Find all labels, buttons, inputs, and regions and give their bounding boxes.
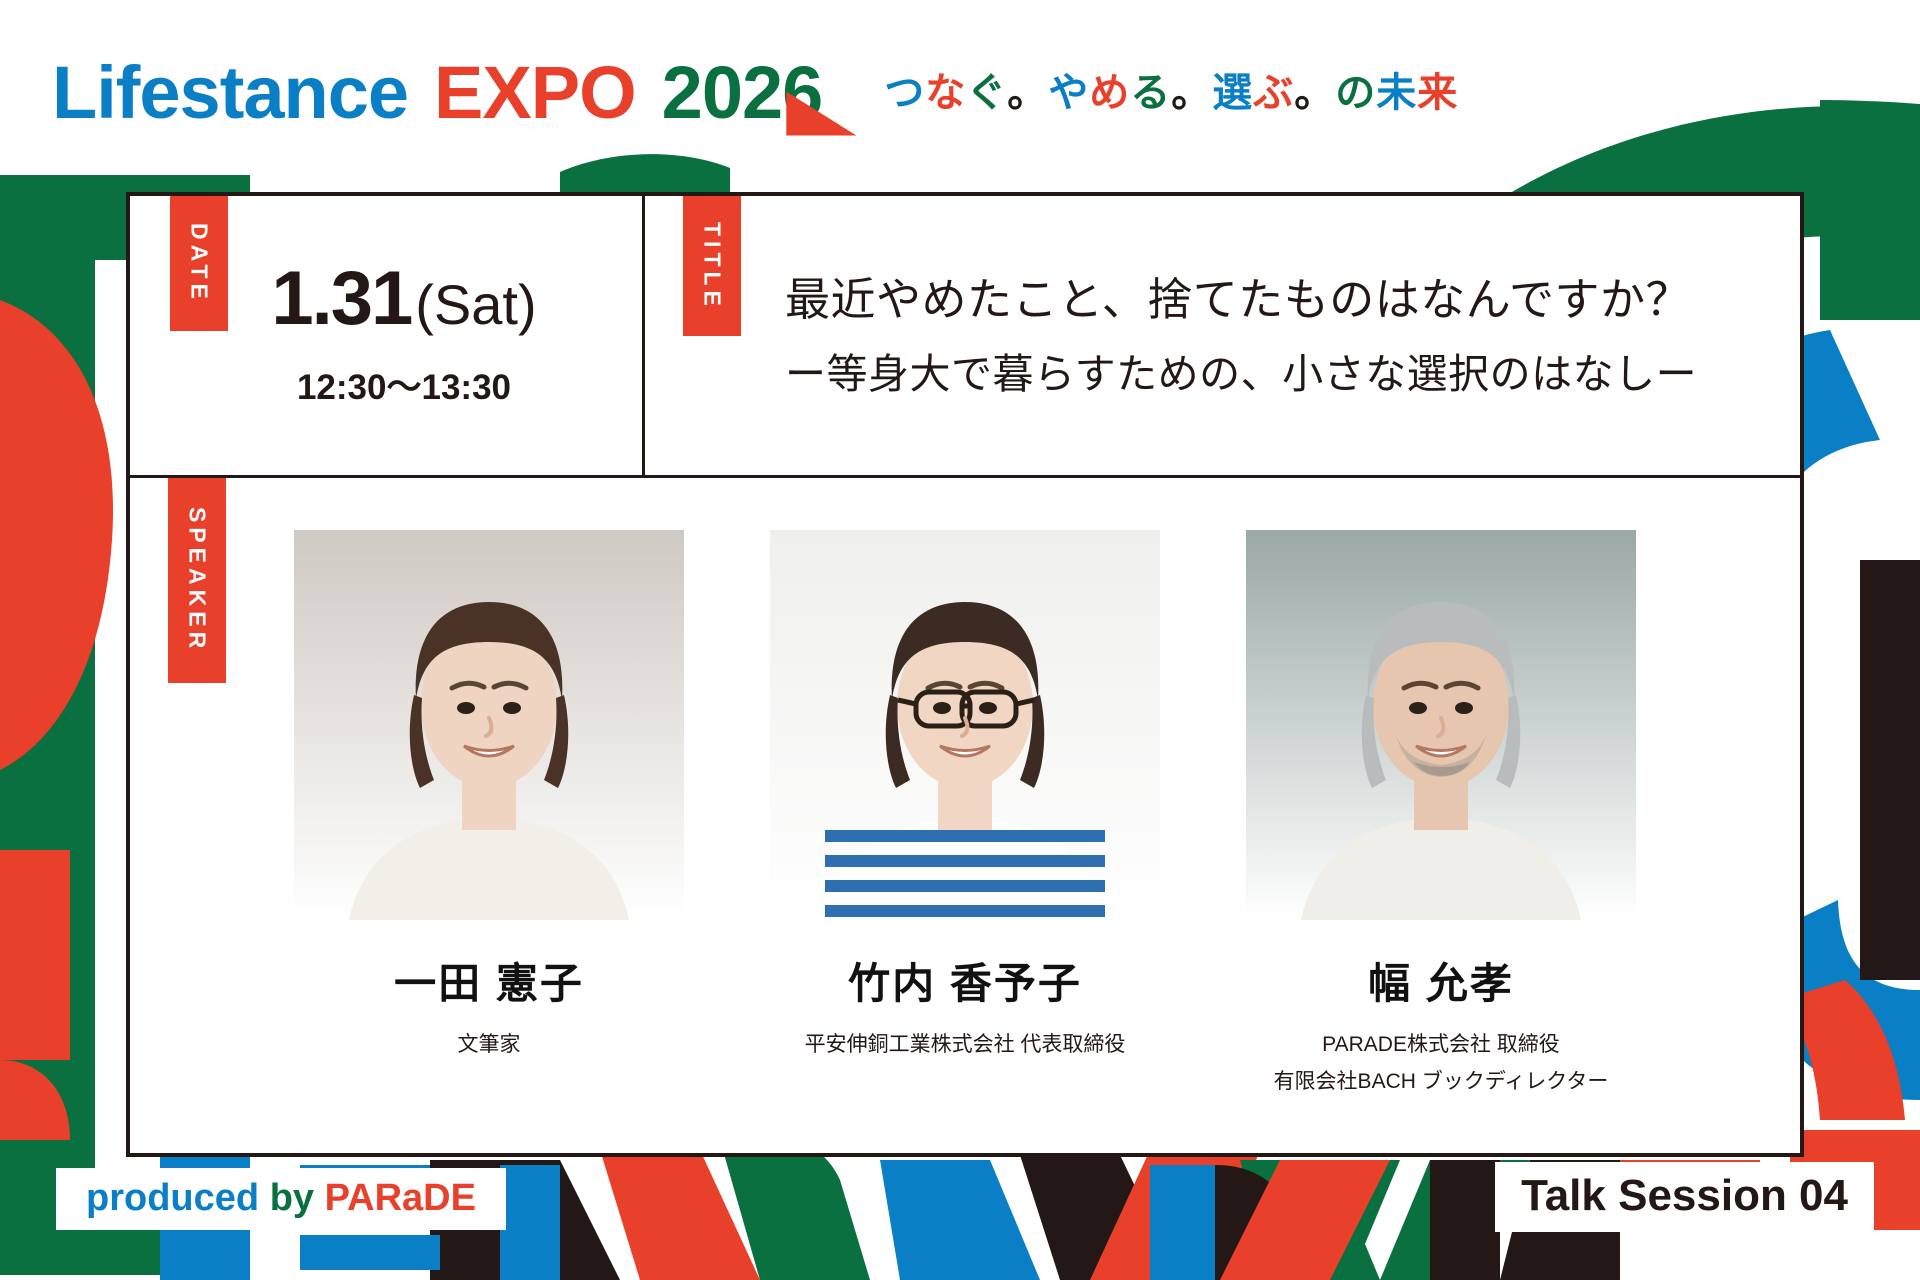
speaker-name: 竹内 香予子 (848, 950, 1082, 1011)
speaker-name: 幅 允孝 (1368, 950, 1514, 1011)
card-top-row: DATE 1.31 (Sat) 12:30〜13:30 TITLE 最近やめたこ… (130, 196, 1800, 478)
tagline-char-10: 。 (1294, 71, 1335, 115)
logo-word-lifestance: Lifestance (52, 56, 408, 130)
poster-header: Lifestance EXPO 2026 つなぐ。やめる。選ぶ。の未来 (0, 0, 1920, 185)
speaker-item: 幅 允孝PARADE株式会社 取締役有限会社BACH ブックディレクター (1246, 530, 1636, 1098)
tagline-char-12: 未 (1376, 71, 1417, 115)
speaker-label-badge: SPEAKER (168, 478, 226, 683)
speaker-role: 文筆家 (458, 1029, 521, 1062)
tagline-char-5: め (1089, 71, 1130, 115)
logo-word-year: 2026 (662, 56, 823, 130)
session-title-line1: 最近やめたこと、捨てたものはなんですか？ (785, 266, 1770, 334)
tagline-char-6: る (1130, 71, 1171, 115)
tagline-char-7: 。 (1171, 71, 1212, 115)
speaker-name: 一田 憲子 (394, 950, 584, 1011)
portrait-haba-yoshitaka (1246, 530, 1636, 920)
tagline-char-4: や (1048, 71, 1089, 115)
title-label-badge: TITLE (683, 196, 741, 336)
produced-by-badge: produced by PARaDE (56, 1168, 506, 1230)
speaker-item: 一田 憲子文筆家 (294, 530, 684, 1098)
tagline-char-1: な (925, 71, 966, 115)
by-word: by (270, 1177, 314, 1219)
portrait-takeuchi-kayoko (770, 530, 1160, 920)
speaker-role: 平安伸銅工業株式会社 代表取締役 (805, 1029, 1126, 1062)
speaker-role-line: 有限会社BACH ブックディレクター (1274, 1066, 1609, 1099)
tagline-char-0: つ (884, 71, 925, 115)
card-bottom-row: SPEAKER (130, 478, 1800, 1154)
event-poster: Lifestance EXPO 2026 つなぐ。やめる。選ぶ。の未来 DATE… (0, 0, 1920, 1280)
date-value: 1.31 (Sat) (271, 261, 536, 337)
tagline-char-2: ぐ (966, 71, 1007, 115)
event-logo: Lifestance EXPO 2026 (52, 56, 822, 130)
portrait-ichida-noriko (294, 530, 684, 920)
session-title-line2: ー等身大で暮らすための、小さな選択のはなしー (785, 344, 1770, 406)
tagline-char-13: 来 (1417, 71, 1458, 115)
speaker-role-line: 文筆家 (458, 1029, 521, 1062)
logo-word-expo: EXPO (434, 56, 636, 130)
tagline-char-3: 。 (1007, 71, 1048, 115)
produced-word: produced (86, 1177, 259, 1219)
speaker-role: PARADE株式会社 取締役有限会社BACH ブックディレクター (1274, 1029, 1609, 1098)
tagline-char-8: 選 (1212, 71, 1253, 115)
talk-session-badge: Talk Session 04 (1495, 1162, 1874, 1232)
date-label-badge: DATE (170, 196, 228, 331)
date-cell: DATE 1.31 (Sat) 12:30〜13:30 (130, 196, 645, 475)
tagline-char-11: の (1335, 71, 1376, 115)
speaker-role-line: 平安伸銅工業株式会社 代表取締役 (805, 1029, 1126, 1062)
session-card: DATE 1.31 (Sat) 12:30〜13:30 TITLE 最近やめたこ… (126, 192, 1804, 1157)
event-tagline: つなぐ。やめる。選ぶ。の未来 (884, 73, 1458, 113)
date-weekday: (Sat) (415, 277, 536, 333)
date-time-range: 12:30〜13:30 (297, 359, 511, 410)
title-cell: TITLE 最近やめたこと、捨てたものはなんですか？ ー等身大で暮らすための、小… (645, 196, 1800, 475)
speaker-role-line: PARADE株式会社 取締役 (1274, 1029, 1609, 1062)
speaker-list: 一田 憲子文筆家 (130, 478, 1800, 1098)
date-day: 1.31 (271, 261, 411, 337)
tagline-char-9: ぶ (1253, 71, 1294, 115)
parade-brand: PARaDE (325, 1177, 476, 1219)
speaker-item: 竹内 香予子平安伸銅工業株式会社 代表取締役 (770, 530, 1160, 1098)
